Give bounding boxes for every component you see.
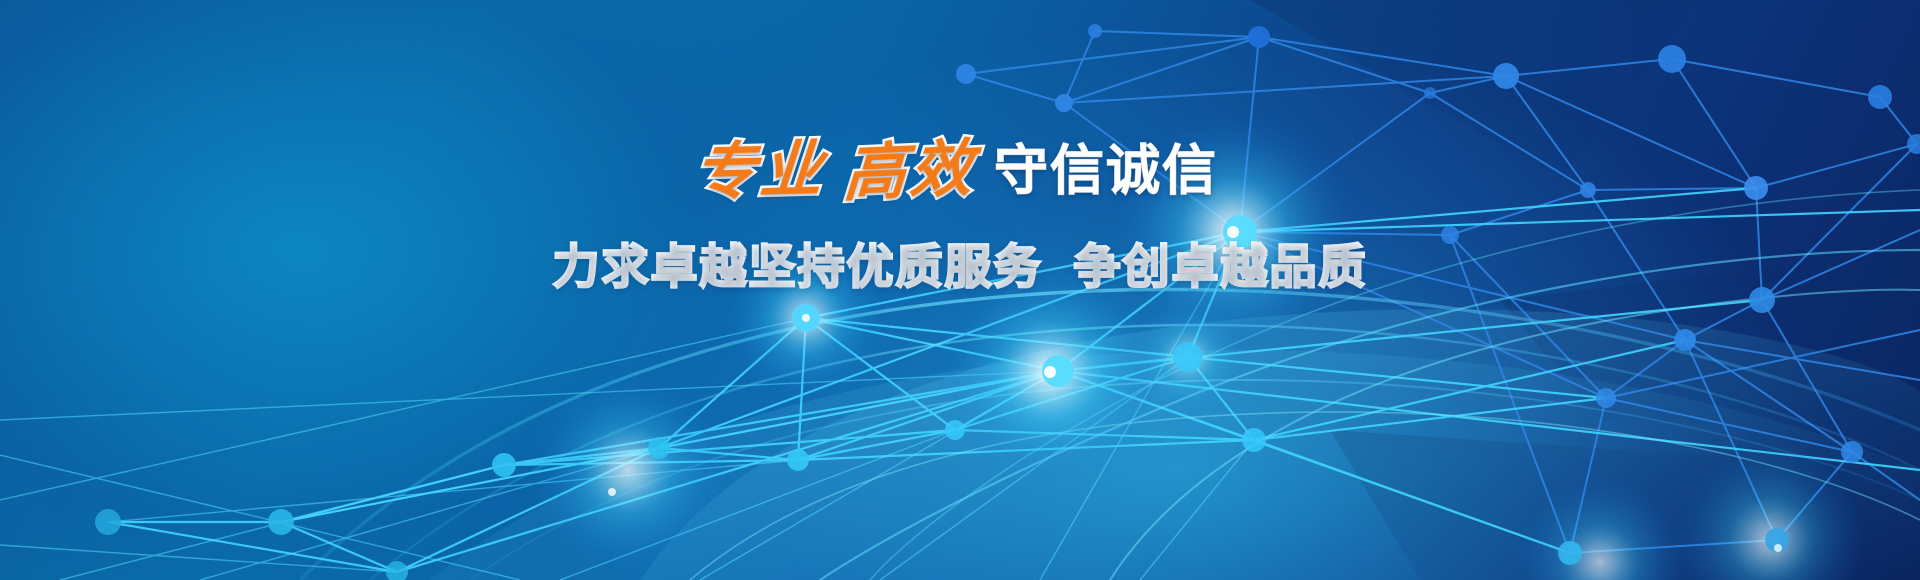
headline-accent-2: 高效 [842, 137, 978, 205]
headline-white: 守信诚信 [994, 144, 1218, 198]
headline-row: 专业 高效 守信诚信 [694, 140, 1218, 202]
subheadline: 力求卓越坚持优质服务 争创卓越品质 [552, 228, 1367, 297]
subheadline-left: 力求卓越坚持优质服务 [552, 240, 1042, 293]
hero-banner: 专业 高效 守信诚信 力求卓越坚持优质服务 争创卓越品质 [0, 0, 1920, 580]
subheadline-right: 争创卓越品质 [1074, 240, 1368, 293]
banner-text-block: 专业 高效 守信诚信 力求卓越坚持优质服务 争创卓越品质 [0, 0, 1920, 580]
headline-accent-1: 专业 [691, 138, 828, 203]
